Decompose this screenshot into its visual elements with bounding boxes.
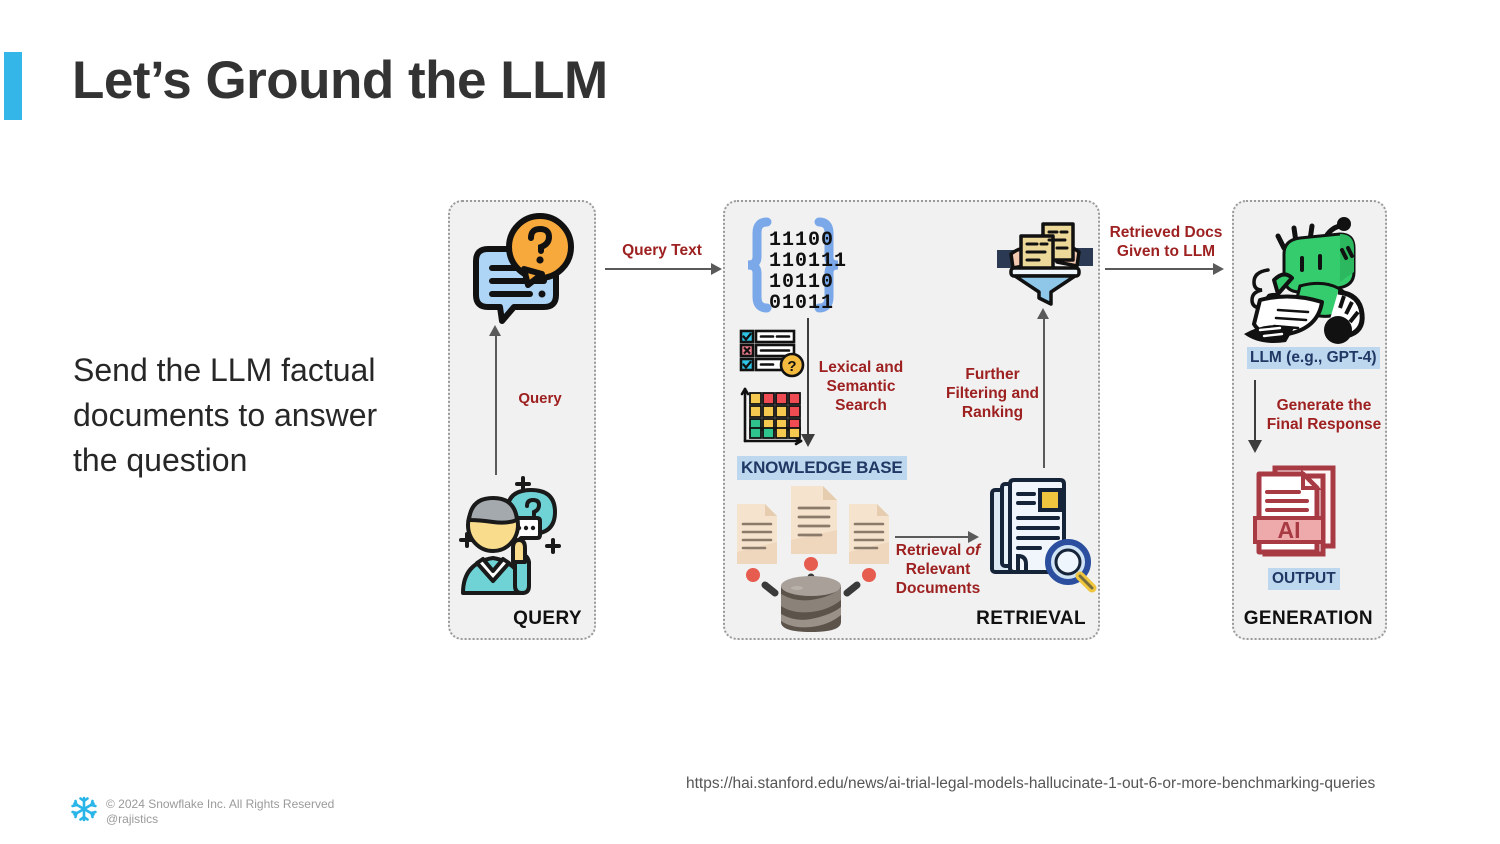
arrow-query-to-retrieval [605, 268, 713, 270]
checklist-question-icon: ? [739, 329, 803, 375]
panel-label-retrieval: RETRIEVAL [976, 608, 1086, 630]
panel-label-generation: GENERATION [1244, 608, 1373, 630]
svg-text:AI: AI [1278, 517, 1301, 543]
color-matrix-icon [739, 385, 807, 447]
connector-label-query-text: Query Text [608, 241, 716, 260]
caption-retrieval-relevant-documents: Retrieval of Relevant Documents [890, 541, 986, 598]
person-asking-icon [459, 468, 581, 593]
copyright-text: © 2024 Snowflake Inc. All Rights Reserve… [106, 797, 334, 812]
caption-generate-final-response: Generate the Final Response [1266, 396, 1382, 434]
document-magnifier-icon [988, 478, 1100, 594]
svg-text:?: ? [787, 358, 796, 375]
caption-query: Query [505, 389, 575, 408]
arrow-generate-response-head [1248, 440, 1262, 453]
page-title: Let’s Ground the LLM [72, 50, 608, 111]
knowledge-base-label: KNOWLEDGE BASE [737, 456, 907, 480]
slide-canvas: Let’s Ground the LLM Send the LLM factua… [0, 0, 1500, 844]
ai-document-icon: AI [1255, 466, 1351, 562]
svg-text:110111: 110111 [769, 250, 847, 273]
footer-attribution: © 2024 Snowflake Inc. All Rights Reserve… [106, 797, 334, 827]
binary-braces-icon: 11100 110111 10110 01011 [745, 218, 841, 312]
arrow-query-up [495, 335, 497, 475]
arrow-retrieval-to-generation [1105, 268, 1215, 270]
arrow-further-filtering-head [1037, 308, 1049, 319]
caption-further-filtering-ranking: Further Filtering and Ranking [945, 365, 1040, 422]
arrow-retrieval-to-generation-head [1213, 263, 1224, 275]
arrow-to-knowledge-base-head [801, 434, 815, 447]
funnel-filter-icon [997, 222, 1093, 306]
output-label: OUTPUT [1268, 568, 1340, 590]
svg-text:10110: 10110 [769, 271, 834, 294]
handle-text: @rajistics [106, 812, 334, 827]
title-accent-bar [4, 52, 22, 120]
chat-bubble-question-icon [468, 213, 580, 325]
llm-label: LLM (e.g., GPT-4) [1247, 347, 1380, 369]
caption-lexical-semantic-search: Lexical and Semantic Search [818, 358, 904, 415]
arrow-to-knowledge-base [807, 318, 809, 436]
svg-text:01011: 01011 [769, 292, 834, 315]
arrow-further-filtering [1043, 318, 1045, 468]
arrow-query-to-retrieval-head [711, 263, 722, 275]
body-text: Send the LLM factual documents to answer… [73, 348, 403, 483]
snowflake-logo [70, 795, 98, 823]
source-url[interactable]: https://hai.stanford.edu/news/ai-trial-l… [686, 775, 1375, 793]
svg-text:11100: 11100 [769, 229, 834, 252]
arrow-retrieval-docs [895, 536, 970, 538]
arrow-query-up-head [489, 325, 501, 336]
documents-icon [731, 482, 903, 632]
arrow-generate-response [1254, 380, 1256, 442]
robot-reading-icon [1238, 214, 1374, 344]
panel-label-query: QUERY [513, 608, 582, 630]
connector-label-retrieved-docs: Retrieved Docs Given to LLM [1105, 223, 1227, 261]
